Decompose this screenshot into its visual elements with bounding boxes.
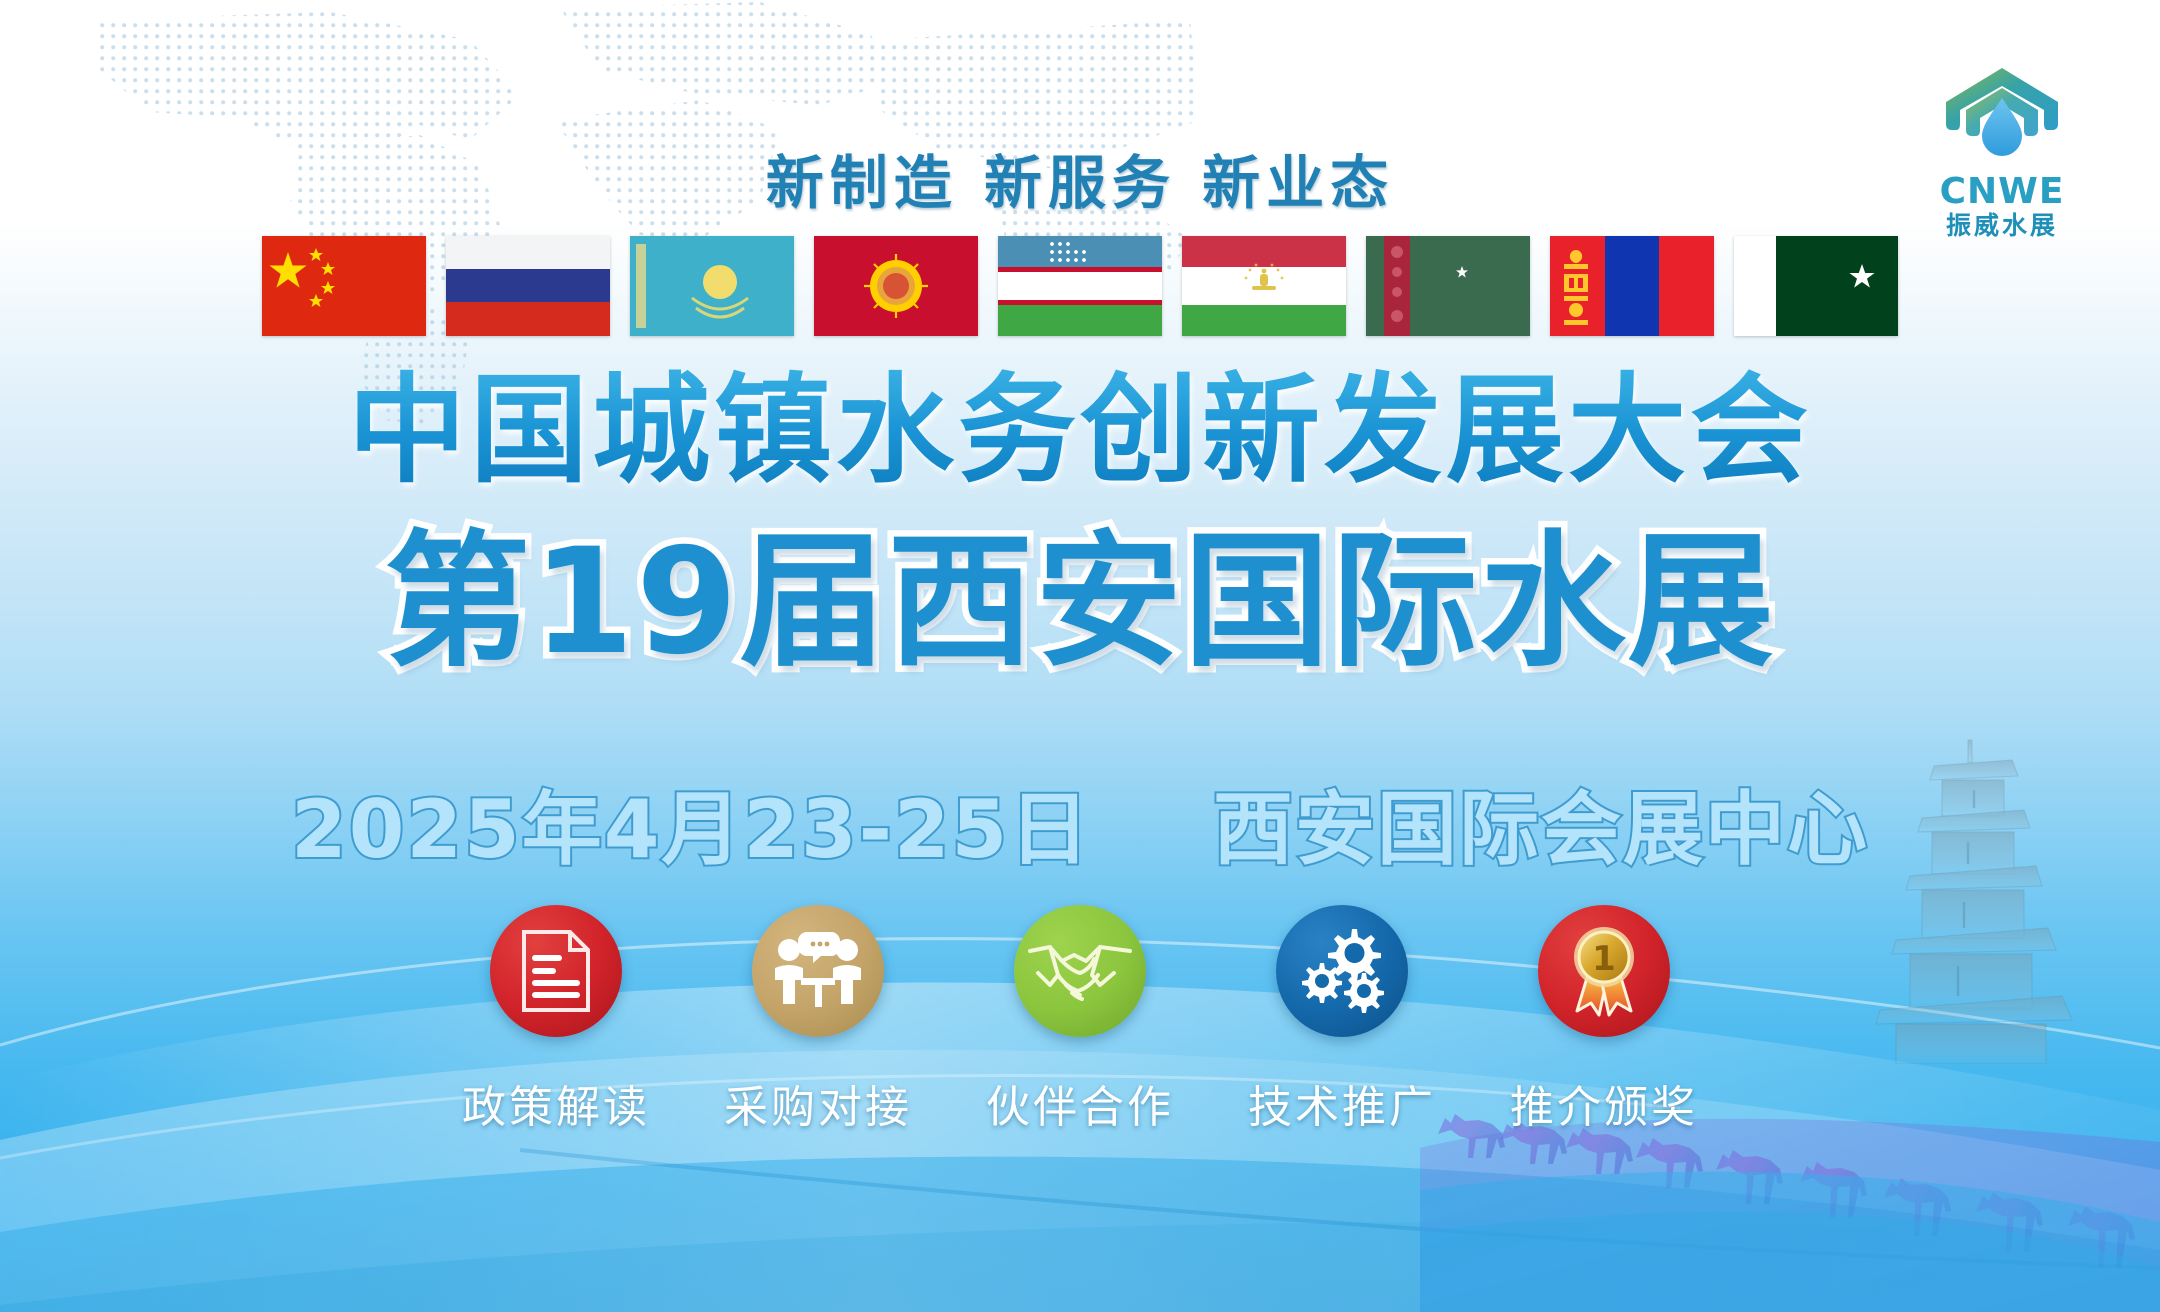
feature-procurement[interactable]: 采购对接 xyxy=(718,905,918,1135)
feature-partnership[interactable]: 伙伴合作 xyxy=(980,905,1180,1135)
expo-title: 第19届西安国际水展 xyxy=(0,525,2160,680)
flag-tajikistan xyxy=(1182,236,1346,336)
feature-label: 推介颁奖 xyxy=(1504,1071,1704,1135)
date-venue-line: 2025年4月23-25日 西安国际会展中心 xyxy=(0,765,2160,881)
feature-circle: 1 xyxy=(1538,905,1670,1037)
event-date: 2025年4月23-25日 xyxy=(291,783,1091,876)
flag-turkmenistan xyxy=(1366,236,1530,336)
feature-technology[interactable]: 技术推广 xyxy=(1242,905,1442,1135)
svg-text:1: 1 xyxy=(1592,939,1616,979)
flag-row xyxy=(0,236,2160,336)
feature-label: 伙伴合作 xyxy=(980,1071,1180,1135)
flag-china xyxy=(262,236,426,336)
handshake-icon xyxy=(1028,935,1132,1007)
feature-label: 采购对接 xyxy=(718,1071,918,1135)
conference-title: 中国城镇水务创新发展大会 xyxy=(0,368,2160,493)
flag-uzbekistan xyxy=(998,236,1162,336)
flag-pakistan xyxy=(1734,236,1898,336)
feature-award[interactable]: 1 推介颁奖 xyxy=(1504,905,1704,1135)
flag-kazakhstan xyxy=(630,236,794,336)
feature-label: 政策解读 xyxy=(456,1071,656,1135)
flag-kyrgyzstan xyxy=(814,236,978,336)
poster-tagline: 新制造 新服务 新业态 xyxy=(0,136,2160,220)
feature-row: 政策解读 采购对接 xyxy=(0,905,2160,1135)
feature-policy[interactable]: 政策解读 xyxy=(456,905,656,1135)
meeting-icon xyxy=(771,930,865,1012)
feature-circle xyxy=(752,905,884,1037)
poster-canvas: CNWE 振威水展 新制造 新服务 新业态 xyxy=(0,0,2160,1312)
flag-russia xyxy=(446,236,610,336)
gears-icon xyxy=(1296,927,1388,1015)
feature-circle xyxy=(490,905,622,1037)
event-venue: 西安国际会展中心 xyxy=(1213,783,1869,876)
feature-circle xyxy=(1014,905,1146,1037)
medal-icon: 1 xyxy=(1561,923,1647,1019)
feature-label: 技术推广 xyxy=(1242,1071,1442,1135)
feature-circle xyxy=(1276,905,1408,1037)
flag-mongolia xyxy=(1550,236,1714,336)
document-icon xyxy=(518,928,594,1014)
